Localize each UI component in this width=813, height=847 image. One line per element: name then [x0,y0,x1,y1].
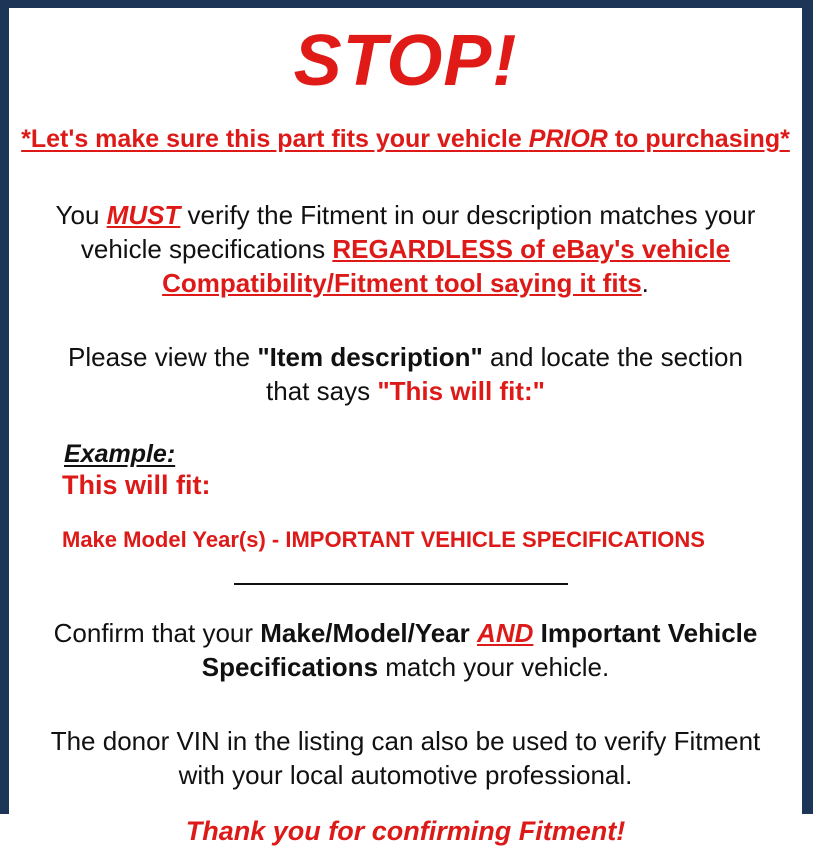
item-description-emphasis: "Item description" [257,342,482,372]
example-spec-line: Make Model Year(s) - IMPORTANT VEHICLE S… [62,527,790,553]
closing-thank-you: Thank you for confirming Fitment! [21,815,790,847]
confirm-space-2 [533,618,540,648]
paragraph-must-verify: You MUST verify the Fitment in our descr… [21,198,790,300]
must-text-lead: You [56,200,107,230]
example-fit-header: This will fit: [62,470,790,501]
example-label: Example: [64,440,175,468]
must-text-period: . [642,268,649,298]
confirm-text-lead: Confirm that your [54,618,261,648]
paragraph-view-description: Please view the "Item description" and l… [21,340,790,408]
this-will-fit-emphasis: "This will fit:" [377,376,545,406]
subtitle-banner: *Let's make sure this part fits your veh… [21,124,790,154]
divider-wrapper [21,583,790,587]
view-text-lead: Please view the [68,342,257,372]
example-label-row: Example: [64,440,790,468]
confirm-text-tail: match your vehicle. [378,652,609,682]
and-emphasis: AND [477,618,533,648]
fitment-notice-card: STOP! *Let's make sure this part fits yo… [0,0,813,814]
horizontal-rule [234,583,568,585]
subtitle-prefix: *Let's make sure this part fits your veh… [21,125,529,153]
subtitle-emphasis-prior: PRIOR [529,125,608,153]
confirm-space-1 [470,618,477,648]
paragraph-donor-vin: The donor VIN in the listing can also be… [21,724,790,792]
example-block: Example: This will fit: Make Model Year(… [21,440,790,553]
must-emphasis: MUST [107,200,181,230]
page-title: STOP! [21,22,790,100]
notice-content: STOP! *Let's make sure this part fits yo… [9,22,802,817]
paragraph-confirm-match: Confirm that your Make/Model/Year AND Im… [21,616,790,684]
subtitle-suffix: to purchasing* [608,125,790,153]
make-model-year-emphasis: Make/Model/Year [260,618,470,648]
